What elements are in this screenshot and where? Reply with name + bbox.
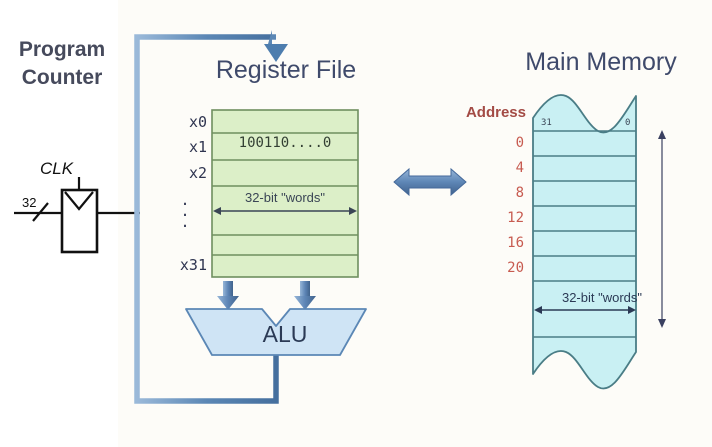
register-label-x2: x2 bbox=[163, 166, 207, 181]
program-counter-register-symbol bbox=[14, 177, 140, 252]
bus-width-label: 32 bbox=[22, 196, 36, 209]
register-label-x1: x1 bbox=[163, 140, 207, 155]
register-to-alu-arrows bbox=[217, 281, 316, 310]
address-value-8: 8 bbox=[478, 186, 524, 200]
main-memory-title: Main Memory bbox=[496, 50, 706, 75]
alu-input-arrow-left bbox=[217, 281, 239, 310]
register-ellipsis: ··· bbox=[163, 199, 207, 231]
alu-input-arrow-right bbox=[294, 281, 316, 310]
address-value-20: 20 bbox=[478, 261, 524, 275]
address-value-16: 16 bbox=[478, 236, 524, 250]
address-column-header: Address bbox=[448, 105, 526, 120]
program-counter-label: Program Counter bbox=[8, 36, 116, 91]
register-label-x0: x0 bbox=[163, 115, 207, 130]
register-file-title: Register File bbox=[196, 58, 376, 83]
register-x1-value: 100110....0 bbox=[212, 136, 358, 150]
address-value-4: 4 bbox=[478, 161, 524, 175]
clock-label: CLK bbox=[40, 160, 73, 177]
main-memory-block bbox=[533, 95, 636, 389]
regfile-memory-bus-arrow[interactable] bbox=[394, 169, 466, 195]
bit-index-high: 31 bbox=[541, 119, 552, 128]
memory-width-annotation: 32-bit "words" bbox=[537, 291, 667, 304]
bit-index-low: 0 bbox=[625, 119, 630, 128]
register-label-x31: x31 bbox=[163, 258, 207, 273]
alu-label: ALU bbox=[214, 323, 356, 346]
address-value-0: 0 bbox=[478, 136, 524, 150]
register-width-annotation: 32-bit "words" bbox=[212, 191, 358, 204]
address-value-12: 12 bbox=[478, 211, 524, 225]
diagram-canvas: Program Counter CLK 32 Register File Mai… bbox=[0, 0, 712, 447]
